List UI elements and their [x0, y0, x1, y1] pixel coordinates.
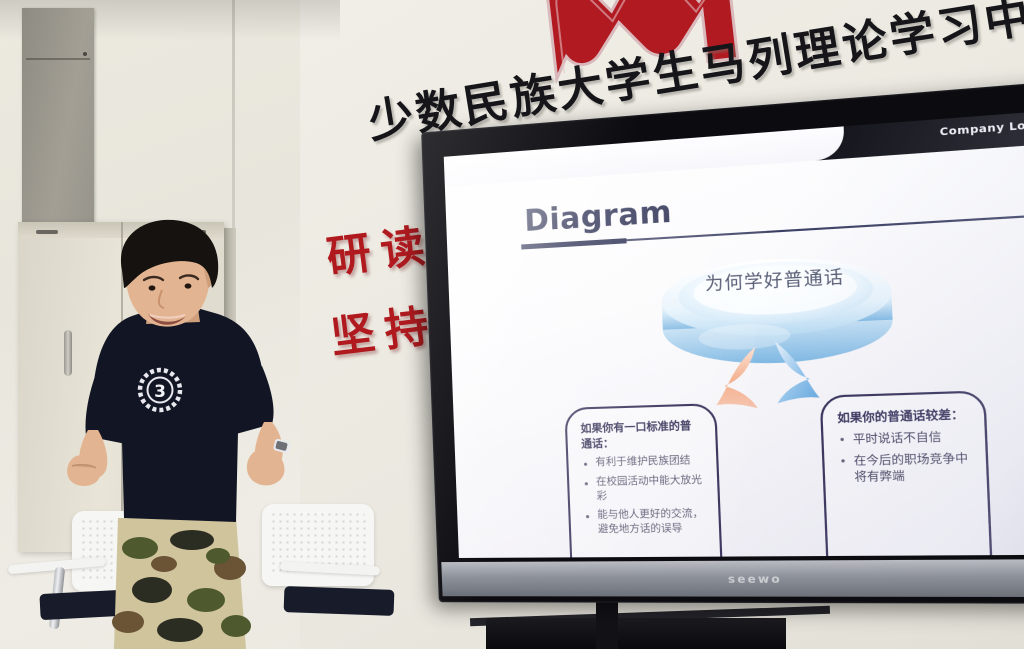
tv-base — [486, 618, 786, 649]
branch-left-bullets: 有利于维护民族团结 在校园活动中能大放光彩 能与他人更好的交流，避免地方话的误导 — [568, 454, 719, 538]
branch-left-heading: 如果你有一口标准的普通话： — [566, 405, 715, 453]
list-item: 有利于维护民族团结 — [595, 454, 706, 471]
slide-title-rule — [626, 200, 1024, 241]
diagram-branch-box-right: 如果你的普通话较差： 平时说话不自信 在今后的职场竞争中将有弊端 — [820, 390, 995, 558]
list-item: 在校园活动中能大放光彩 — [596, 473, 707, 504]
tv-screen[interactable]: Company Logo Diagram — [444, 109, 1024, 558]
branch-right-heading: 如果你的普通话较差： — [822, 393, 984, 428]
branch-arrow-right-icon — [771, 338, 823, 406]
powerpoint-slide[interactable]: Company Logo Diagram — [444, 109, 1024, 558]
list-item: 平时说话不自信 — [853, 428, 974, 448]
tv-stand-column — [596, 600, 618, 649]
cabinet-upper-unit — [22, 8, 94, 230]
presentation-display[interactable]: Company Logo Diagram — [421, 79, 1024, 604]
presenter-person: 3 — [40, 218, 320, 649]
svg-text:3: 3 — [154, 382, 166, 402]
slide-title: Diagram — [524, 194, 673, 238]
slide-title-underline — [521, 238, 626, 249]
company-logo-placeholder: Company Logo — [939, 119, 1024, 139]
tv-brand-label: seewo — [728, 572, 782, 586]
diagram-branch-box-left: 如果你有一口标准的普通话： 有利于维护民族团结 在校园活动中能大放光彩 能与他人… — [564, 403, 724, 558]
photo-scene: 少数民族大学生马列理论学习中心 研读经 坚持实 Company Logo — [0, 0, 1024, 649]
list-item: 在今后的职场竞争中将有弊端 — [853, 449, 975, 485]
branch-right-bullets: 平时说话不自信 在今后的职场竞争中将有弊端 — [823, 428, 987, 487]
list-item: 能与他人更好的交流，避免地方话的误导 — [597, 507, 708, 538]
branch-arrow-left-icon — [712, 345, 763, 412]
tv-bottom-bezel: seewo — [441, 559, 1024, 597]
